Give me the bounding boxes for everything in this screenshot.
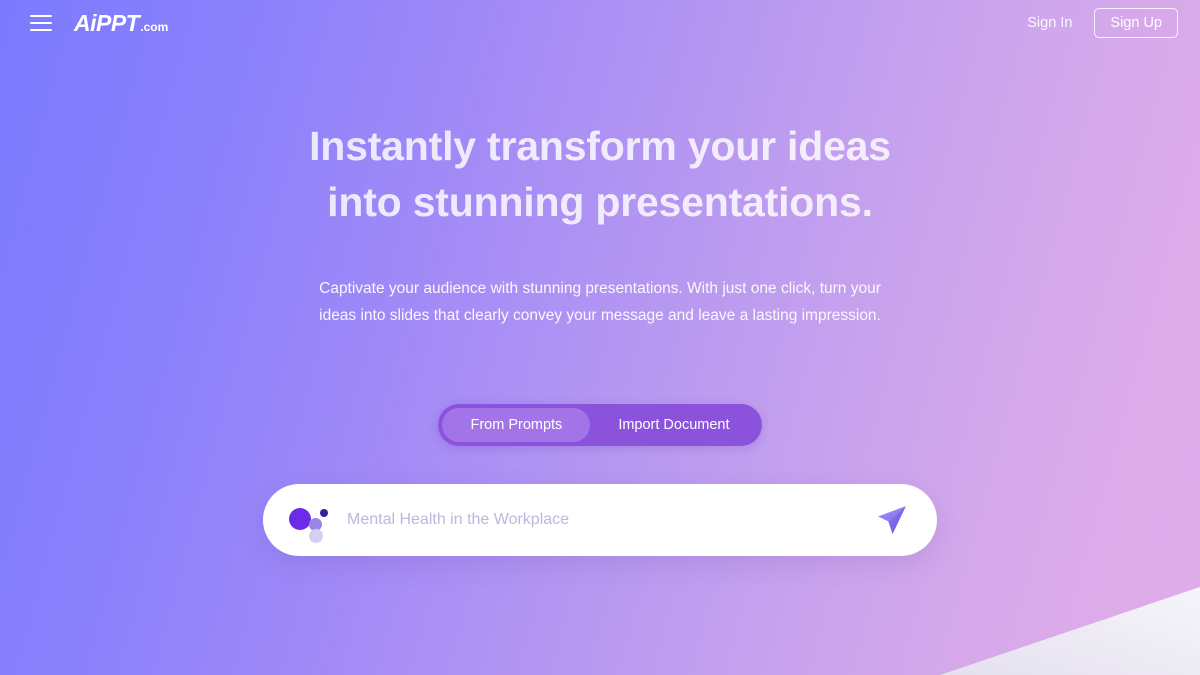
mode-toggle-group: From Prompts Import Document: [438, 404, 761, 446]
hamburger-line: [30, 29, 52, 31]
tab-import-document[interactable]: Import Document: [590, 408, 757, 442]
subhead-line-1: Captivate your audience with stunning pr…: [319, 275, 881, 302]
headline-line-1: Instantly transform your ideas: [309, 118, 891, 174]
send-button[interactable]: [869, 497, 915, 543]
hamburger-line: [30, 22, 52, 24]
hamburger-menu-icon[interactable]: [30, 15, 52, 31]
send-paper-plane-icon: [875, 503, 909, 537]
brand-logo-domain: .com: [140, 21, 168, 33]
site-header: AiPPT .com Sign In Sign Up: [0, 0, 1200, 46]
ai-dot-pale: [309, 529, 323, 543]
ai-dot-small: [320, 509, 328, 517]
hamburger-line: [30, 15, 52, 17]
page-subtitle: Captivate your audience with stunning pr…: [319, 275, 881, 329]
hero-section: Instantly transform your ideas into stun…: [0, 0, 1200, 675]
ai-dot-large: [289, 508, 311, 530]
brand-logo-name: AiPPT: [74, 12, 139, 35]
sign-up-button[interactable]: Sign Up: [1094, 8, 1178, 38]
prompt-input[interactable]: [337, 511, 869, 529]
tab-from-prompts[interactable]: From Prompts: [442, 408, 590, 442]
subhead-line-2: ideas into slides that clearly convey yo…: [319, 302, 881, 329]
sign-in-link[interactable]: Sign In: [1027, 15, 1072, 31]
headline-line-2: into stunning presentations.: [309, 174, 891, 230]
ai-sparkle-dots-icon: [287, 500, 329, 540]
prompt-input-bar[interactable]: [263, 484, 937, 556]
page-title: Instantly transform your ideas into stun…: [309, 118, 891, 230]
brand-logo[interactable]: AiPPT .com: [74, 12, 168, 35]
